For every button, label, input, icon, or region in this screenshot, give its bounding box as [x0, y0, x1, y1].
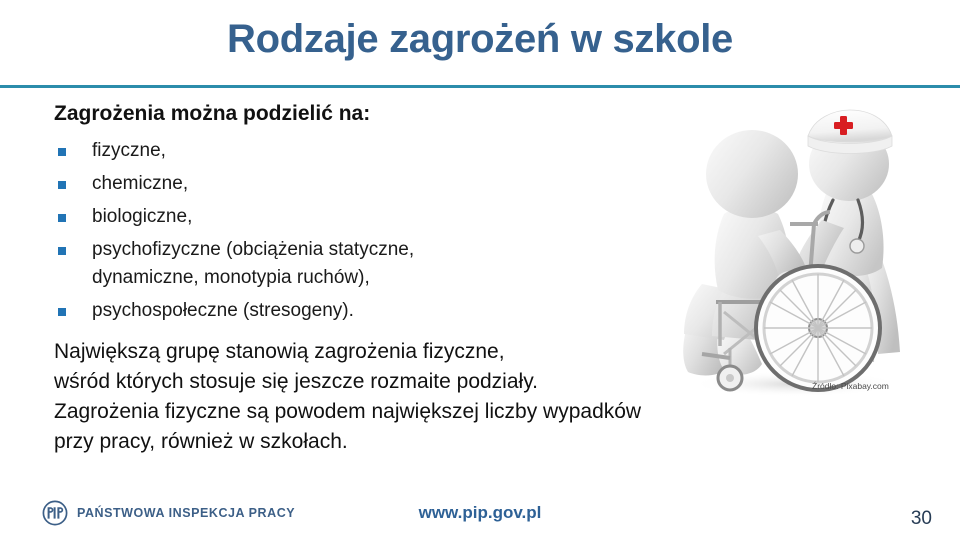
list-item: psychofizyczne (obciążenia statyczne, dy…	[54, 236, 754, 292]
summary-line-2: wśród których stosuje się jeszcze rozmai…	[54, 367, 754, 397]
bullet-square-icon	[58, 247, 66, 255]
list-item: chemiczne,	[54, 170, 754, 198]
nurse-wheelchair-illustration	[668, 96, 924, 396]
bullet-square-icon	[58, 148, 66, 156]
list-item: biologiczne,	[54, 203, 754, 231]
intro-heading: Zagrożenia można podzielić na:	[54, 99, 754, 129]
list-item-label: fizyczne,	[92, 140, 166, 161]
bullet-square-icon	[58, 308, 66, 316]
list-item: fizyczne,	[54, 137, 754, 165]
list-item-label: psychofizyczne (obciążenia statyczne,	[92, 239, 414, 260]
footer-url[interactable]: www.pip.gov.pl	[0, 503, 960, 523]
summary-line-4: przy pracy, również w szkołach.	[54, 427, 754, 457]
title-divider-rule	[0, 85, 960, 88]
hazard-type-list: fizyczne, chemiczne, biologiczne, psycho…	[54, 137, 754, 325]
list-item-label: biologiczne,	[92, 206, 192, 227]
summary-paragraph: Największą grupę stanowią zagrożenia fiz…	[54, 337, 754, 457]
content-body: Zagrożenia można podzielić na: fizyczne,…	[54, 99, 754, 457]
page-title: Rodzaje zagrożeń w szkole	[0, 14, 960, 64]
slide-canvas: Rodzaje zagrożeń w szkole Zagrożenia moż…	[0, 0, 960, 540]
summary-line-3: Zagrożenia fizyczne są powodem największ…	[54, 397, 754, 427]
list-item-label: chemiczne,	[92, 173, 188, 194]
bullet-square-icon	[58, 214, 66, 222]
list-item-label: psychospołeczne (stresogeny).	[92, 300, 354, 321]
list-item: psychospołeczne (stresogeny).	[54, 297, 754, 325]
list-item-label-continued: dynamiczne, monotypia ruchów),	[92, 264, 754, 292]
page-number: 30	[911, 508, 932, 530]
bullet-square-icon	[58, 181, 66, 189]
image-credit: Źródło: Pixabay.com	[812, 381, 889, 391]
summary-line-1: Największą grupę stanowią zagrożenia fiz…	[54, 337, 754, 367]
